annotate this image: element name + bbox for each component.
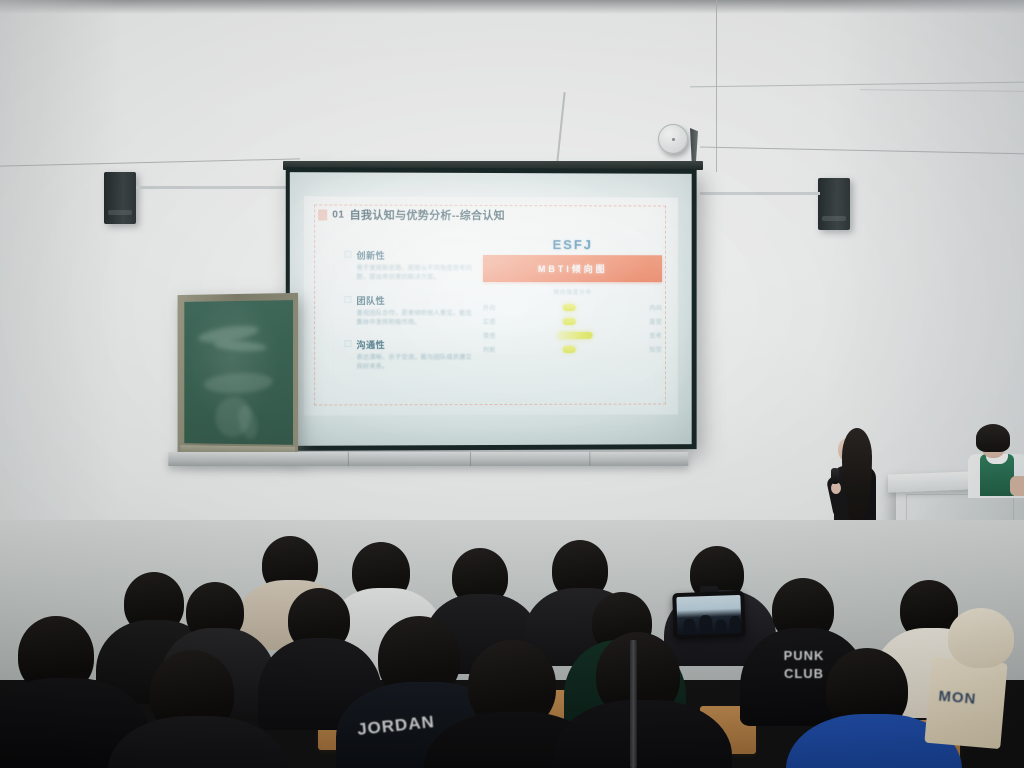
green-chalkboard	[178, 293, 299, 459]
projection-screen: 01 自我认知与优势分析--综合认知 创新性 善于发现新思路，能够从不同角度思考…	[286, 167, 697, 451]
mbti-row-3-track	[509, 330, 636, 340]
tripod-pole	[630, 640, 637, 768]
slide-point-2-heading: 团队性	[356, 294, 477, 307]
screen-surface: 01 自我认知与优势分析--综合认知 创新性 善于发现新思路，能够从不同角度思考…	[290, 172, 692, 446]
mbti-row: 实感 直觉	[483, 314, 662, 328]
speaker-bracket-right	[700, 192, 820, 195]
slide-right-column: ESFJ MBTI倾向图 倾向强度分布 外向 内向 实感	[483, 237, 662, 356]
bullet-icon-1	[344, 251, 351, 258]
slide-point-2-body: 重视团队合作，愿意倾听他人意见，能在集体中发挥积极作用。	[356, 309, 477, 328]
mbti-row-3-right-pole: 思考	[636, 330, 662, 339]
mbti-rows: 外向 内向 实感 直觉	[483, 300, 662, 356]
mbti-type-label: ESFJ	[483, 237, 662, 252]
mbti-row-4-track	[509, 344, 636, 354]
mbti-row: 外向 内向	[483, 300, 662, 314]
slide-left-column: 创新性 善于发现新思路，能够从不同角度思考问题，提出有创意的解决方案。 团队性 …	[356, 249, 477, 383]
smartphone-recording[interactable]	[672, 591, 746, 639]
chalkboard-surface	[184, 300, 293, 445]
mbti-chart-caption: 倾向强度分布	[483, 288, 662, 296]
phone-preview-head	[715, 619, 726, 633]
slide-point-1-body: 善于发现新思路，能够从不同角度思考问题，提出有创意的解决方案。	[356, 264, 477, 283]
microphone-icon	[831, 468, 839, 484]
speaker-grill-left	[108, 210, 131, 215]
slide-point-3-body: 表达清晰、乐于交流，能与团队成员建立良好关系。	[356, 353, 477, 372]
slide-number: 01	[332, 209, 344, 220]
chalk-smudge	[213, 339, 267, 352]
phone-screen[interactable]	[676, 595, 741, 635]
slide-point-1: 创新性 善于发现新思路，能够从不同角度思考问题，提出有创意的解决方案。	[356, 249, 477, 283]
chalk-smudge	[203, 371, 273, 395]
ledge-segment	[470, 452, 471, 466]
mbti-row-2-left-pole: 实感	[483, 316, 509, 325]
mbti-row-3-marker	[557, 332, 593, 339]
mbti-row-1-track	[509, 302, 636, 312]
mbti-row-4-marker	[563, 346, 576, 353]
slide-point-3: 沟通性 表达清晰、乐于交流，能与团队成员建立良好关系。	[356, 338, 477, 372]
phone-preview-head	[683, 618, 696, 634]
lecture-hall-scene: 01 自我认知与优势分析--综合认知 创新性 善于发现新思路，能够从不同角度思考…	[0, 0, 1024, 768]
mbti-row-1-marker	[563, 304, 576, 311]
wall-crack-3	[556, 92, 565, 162]
tote-bag: MON	[924, 657, 1007, 749]
mbti-row-1-left-pole: 外向	[483, 302, 509, 311]
phone-preview-head	[699, 615, 713, 634]
host-arm	[1010, 476, 1024, 496]
presentation-slide: 01 自我认知与优势分析--综合认知 创新性 善于发现新思路，能够从不同角度思考…	[304, 196, 678, 415]
audience-head	[948, 608, 1014, 668]
slide-title-badge-icon	[318, 209, 327, 220]
mbti-banner: MBTI倾向图	[483, 255, 662, 282]
slide-point-2: 团队性 重视团队合作，愿意倾听他人意见，能在集体中发挥积极作用。	[356, 294, 477, 328]
ledge-segment	[348, 452, 349, 466]
wall-speaker-right	[818, 178, 850, 230]
mbti-row: 情感 思考	[483, 328, 662, 342]
mbti-row-4-right-pole: 知觉	[636, 344, 662, 353]
ledge-segment	[589, 452, 590, 466]
slide-title-row: 01 自我认知与优势分析--综合认知	[318, 206, 505, 223]
mbti-row-1-right-pole: 内向	[636, 303, 662, 312]
speaker-grill-right	[822, 216, 845, 221]
board-ledge	[168, 452, 688, 466]
audience-area: PUNK CLUB JORDAN MON	[0, 520, 1024, 768]
bullet-icon-3	[344, 340, 351, 347]
speaker-bracket-left	[136, 186, 286, 189]
mbti-row-4-left-pole: 判断	[483, 344, 509, 353]
mbti-row-2-marker	[563, 318, 576, 325]
wall-speaker-left	[104, 172, 136, 224]
mbti-row-2-track	[509, 316, 636, 326]
slide-point-3-heading: 沟通性	[356, 338, 477, 351]
host-hair	[976, 424, 1010, 452]
mbti-row: 判断 知觉	[483, 342, 662, 356]
slide-point-1-heading: 创新性	[356, 249, 477, 262]
slide-title: 自我认知与优势分析--综合认知	[350, 207, 505, 223]
mbti-row-2-right-pole: 直觉	[636, 316, 662, 325]
phone-preview-head	[729, 616, 742, 633]
seated-host	[966, 424, 1024, 502]
bullet-icon-2	[344, 296, 351, 303]
wall-clock-icon	[658, 124, 688, 154]
mbti-row-3-left-pole: 情感	[483, 330, 509, 339]
tote-bag-text: MON	[938, 688, 977, 708]
